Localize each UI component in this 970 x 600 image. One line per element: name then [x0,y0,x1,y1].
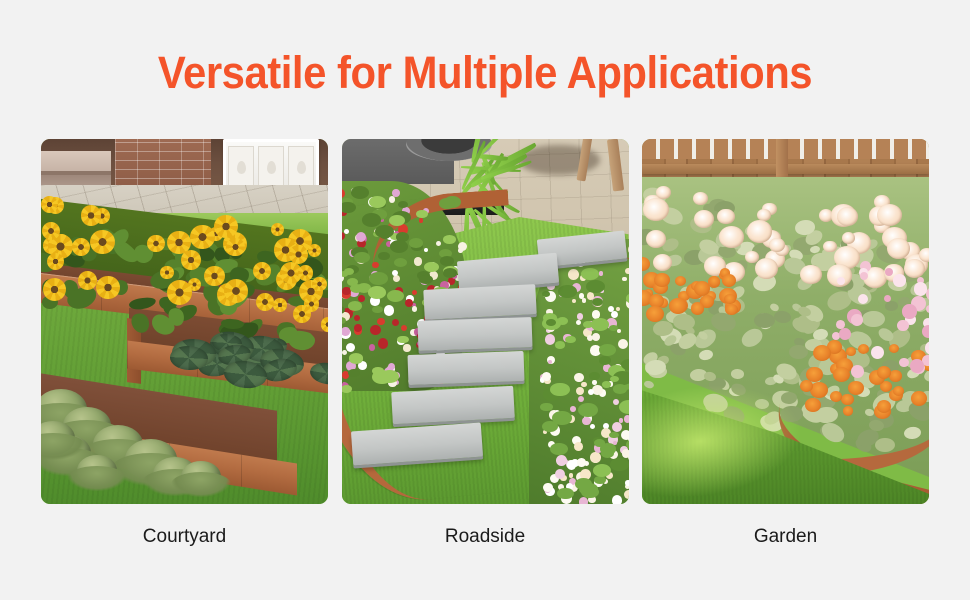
flower-blossom [392,319,399,326]
marigold-bloom [646,306,664,322]
bed-foliage [416,210,428,218]
bed-foliage [397,336,408,344]
flower-blossom [592,333,600,341]
rose-bloom [919,248,929,262]
flower-blossom [592,380,597,385]
bed-foliage [602,381,611,388]
rose-bloom [823,241,836,253]
bed-foliage [552,411,572,425]
flower-blossom [619,418,623,422]
bed-foliage [409,238,423,248]
flower-blossom [570,406,576,412]
bed-foliage [540,403,552,411]
flower-blossom [621,430,629,441]
bed-foliage [565,336,575,343]
sunflower [273,298,287,312]
sunflower [298,265,314,281]
bed-foliage [550,383,569,397]
sunflower [271,223,284,236]
bed-foliage [589,372,600,380]
marigold-bloom [669,298,687,314]
pink-bloom [851,314,863,326]
flower-blossom [625,268,629,275]
flower-blossom [545,334,555,344]
flower-blossom [624,490,629,499]
flower-blossom [405,299,413,307]
bed-foliage [591,318,609,330]
flower-blossom [342,327,350,335]
bed-foliage [581,268,599,281]
bed-foliage [599,344,616,356]
flower-blossom [612,495,622,504]
marigold-bloom [709,276,721,286]
flower-blossom [576,387,584,395]
stepping-stone [417,317,532,351]
bed-foliage [348,301,362,311]
sunflower [96,276,119,299]
flower-blossom [424,248,428,252]
rose-bloom [719,226,744,248]
bed-foliage [372,306,383,313]
cabbage-plant [77,455,117,486]
sunflower [72,238,90,256]
rose-bloom [693,192,708,206]
gallery-card-roadside[interactable]: Roadside [342,139,629,504]
courtyard-photo[interactable] [41,139,328,504]
caption-roadside: Roadside [342,525,629,549]
pink-bloom [885,268,893,276]
application-gallery: Courtyard Roadside [41,139,929,504]
flower-blossom [403,344,410,351]
rose-bloom [694,210,714,228]
bed-foliage [443,268,457,278]
flower-blossom [568,269,579,280]
bed-foliage [609,432,618,438]
sunflower [308,244,321,257]
bed-foliage [349,353,364,363]
flower-blossom [587,335,593,341]
flower-blossom [579,497,588,504]
sunflower [190,225,215,250]
marigold-bloom [691,302,705,314]
flower-blossom [582,298,587,303]
rose-bloom [717,209,734,225]
bed-foliage [344,268,354,275]
sunflower [214,215,237,238]
bed-foliage [578,403,598,417]
pink-bloom [926,305,929,313]
sunflower [289,245,308,264]
marigold-bloom [675,276,686,286]
rose-bloom [877,204,901,226]
flower-blossom [624,415,629,423]
flower-blossom [577,458,586,467]
pink-bloom [897,320,908,331]
sunflower [312,277,326,291]
bed-foliage [594,476,606,484]
bed-foliage [394,258,407,267]
flower-blossom [543,483,553,493]
rose-bloom [646,230,666,248]
door-panels [228,146,314,189]
flower-blossom [622,277,627,282]
sunflower [224,279,248,303]
flower-blossom [625,480,628,485]
sunflower [253,262,271,280]
bed-foliage [368,286,386,299]
bed-foliage [342,385,353,393]
bed-foliage [592,298,603,306]
bed-foliage [439,198,454,209]
bed-foliage [362,213,382,227]
flower-blossom [574,442,583,451]
bed-foliage [369,272,388,285]
flower-blossom [344,229,349,234]
garden-photo[interactable] [642,139,929,504]
bed-foliage [601,449,614,458]
bed-foliage [610,458,629,471]
flower-blossom [378,338,388,348]
bed-foliage [619,400,628,414]
border-foliage [862,311,885,327]
lawn-sunlight-patch [642,373,809,504]
flower-blossom [581,382,587,388]
pink-bloom [902,304,916,318]
flower-blossom [414,257,422,265]
sunflower [78,271,97,290]
flower-blossom [579,293,584,298]
caption-courtyard: Courtyard [41,525,328,549]
border-foliage [754,313,775,328]
rose-bloom [747,220,772,242]
bed-foliage [546,319,556,326]
flower-blossom [599,271,603,275]
roadside-photo[interactable] [342,139,629,504]
sunflower [147,235,165,253]
gallery-card-courtyard[interactable]: Courtyard [41,139,328,504]
sunflower [41,196,58,213]
flower-blossom [612,422,622,432]
flower-blossom [346,343,355,352]
marigold-bloom [694,281,710,296]
stepping-stone [423,284,536,320]
sunflower [204,266,224,286]
flower-blossom [572,299,576,303]
stepping-stone [391,386,515,424]
sunflower [181,250,201,270]
marigold-bloom [724,294,736,305]
bed-foliage [372,367,383,375]
sunflower [293,305,311,323]
flower-blossom [372,262,379,269]
cabbage-plant [41,421,75,455]
marigold-bloom [725,304,738,315]
flower-blossom [389,196,395,202]
stepping-stone [407,351,524,385]
bed-foliage [558,285,576,298]
flower-blossom [588,389,594,395]
flower-blossom [384,305,394,315]
sunflower [90,230,115,255]
bed-foliage [599,356,611,364]
caption-garden: Garden [642,525,929,549]
gallery-card-garden[interactable]: Garden [642,139,929,504]
bed-foliage [593,464,612,477]
rose-bloom [800,265,821,284]
bed-foliage [443,235,455,244]
cabbage-plant [181,461,221,492]
flower-blossom [556,455,567,466]
rose-bloom [837,207,858,226]
pink-bloom [893,274,905,286]
rose-bloom [887,238,910,259]
bed-foliage [419,275,433,285]
bed-foliage [342,202,356,214]
bed-foliage [378,252,390,260]
bed-foliage [555,341,565,348]
pink-bloom [914,282,928,296]
bed-foliage [609,325,618,332]
flower-blossom [590,452,601,463]
sunflower [226,238,244,256]
sunflower [167,280,192,305]
sunflower [321,317,328,331]
page-title: Versatile for Multiple Applications [34,47,936,99]
bed-foliage [424,262,439,273]
bed-foliage [440,256,454,266]
bed-foliage [586,280,605,293]
bed-foliage [575,478,592,490]
